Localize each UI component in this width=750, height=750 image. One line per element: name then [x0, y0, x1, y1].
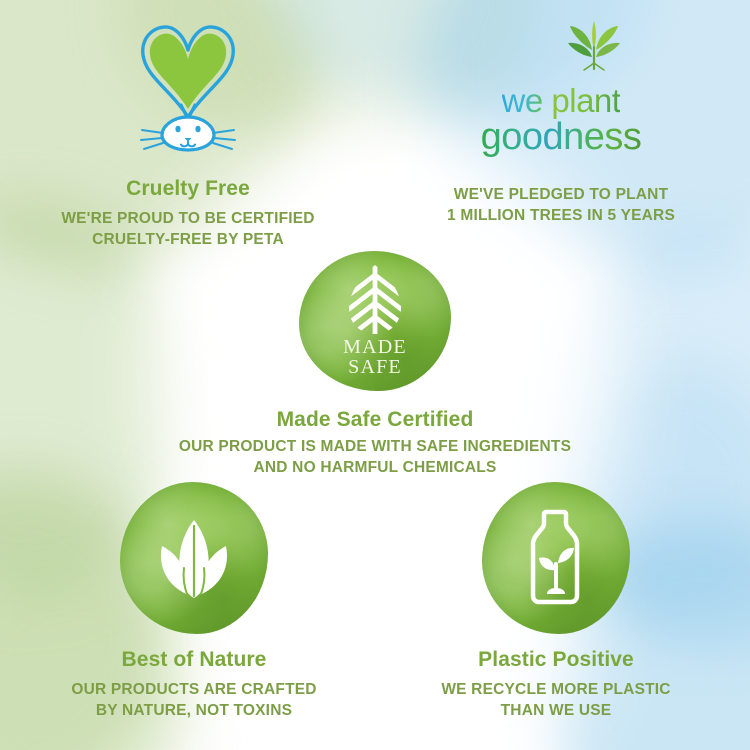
- claim-plastic-positive-description: WE RECYCLE MORE PLASTIC THAN WE USE: [382, 680, 730, 722]
- wordmark-word-we: we: [502, 82, 543, 119]
- claim-cruelty-free-media: [8, 18, 368, 156]
- claim-made-safe-certified-description: OUR PRODUCT IS MADE WITH SAFE INGREDIENT…: [140, 437, 610, 479]
- claim-made-safe-certified-title: Made Safe Certified: [140, 408, 610, 431]
- bottle-with-sprout-glyph: [519, 508, 593, 608]
- claims-grid: Cruelty Free WE'RE PROUD TO BE CERTIFIED…: [0, 0, 750, 750]
- three-leaves-badge-icon: [120, 482, 268, 634]
- claim-we-plant-goodness-description: WE'VE PLEDGED TO PLANT 1 MILLION TREES I…: [380, 185, 742, 227]
- claim-made-safe-certified-media: MADE SAFE: [140, 248, 610, 394]
- claim-made-safe-certified: MADE SAFE Made Safe Certified OUR PRODUC…: [140, 248, 610, 479]
- claim-best-of-nature-media: [20, 484, 368, 632]
- three-leaves-glyph: [148, 512, 240, 604]
- claim-plastic-positive-title: Plastic Positive: [382, 648, 730, 671]
- wordmark-word-plant: plant: [551, 82, 620, 119]
- claim-cruelty-free: Cruelty Free WE'RE PROUD TO BE CERTIFIED…: [8, 18, 368, 251]
- made-safe-line-2: SAFE: [348, 358, 402, 378]
- claim-we-plant-goodness-media: we plant goodness: [380, 18, 742, 156]
- wordmark-word-goodness: goodness: [481, 116, 642, 158]
- claim-cruelty-free-description: WE'RE PROUD TO BE CERTIFIED CRUELTY-FREE…: [8, 209, 368, 251]
- eco-claims-infographic: Cruelty Free WE'RE PROUD TO BE CERTIFIED…: [0, 0, 750, 750]
- wordmark-line-2: goodness: [481, 119, 642, 155]
- claim-plastic-positive: Plastic Positive WE RECYCLE MORE PLASTIC…: [382, 484, 730, 722]
- claim-best-of-nature-description: OUR PRODUCTS ARE CRAFTED BY NATURE, NOT …: [20, 680, 368, 722]
- claim-best-of-nature: Best of Nature OUR PRODUCTS ARE CRAFTED …: [20, 484, 368, 722]
- claim-plastic-positive-media: [382, 484, 730, 632]
- chevron-leaf-icon: [343, 264, 407, 336]
- made-safe-text-lockup: MADE SAFE: [343, 338, 407, 377]
- peta-bunny-heart-ears-icon: [132, 21, 244, 153]
- made-safe-lockup: MADE SAFE: [343, 264, 407, 377]
- claim-best-of-nature-title: Best of Nature: [20, 648, 368, 671]
- we-plant-goodness-wordmark: we plant goodness: [481, 17, 642, 157]
- made-safe-leaf-badge-icon: MADE SAFE: [299, 251, 451, 391]
- claim-cruelty-free-title: Cruelty Free: [8, 177, 368, 200]
- bottle-sprout-badge-icon: [482, 482, 630, 634]
- sprout-leaves-icon: [561, 19, 627, 71]
- wordmark-line-1: we plant: [502, 85, 621, 116]
- claim-we-plant-goodness: we plant goodness WE'VE PLEDGED TO PLANT…: [380, 18, 742, 227]
